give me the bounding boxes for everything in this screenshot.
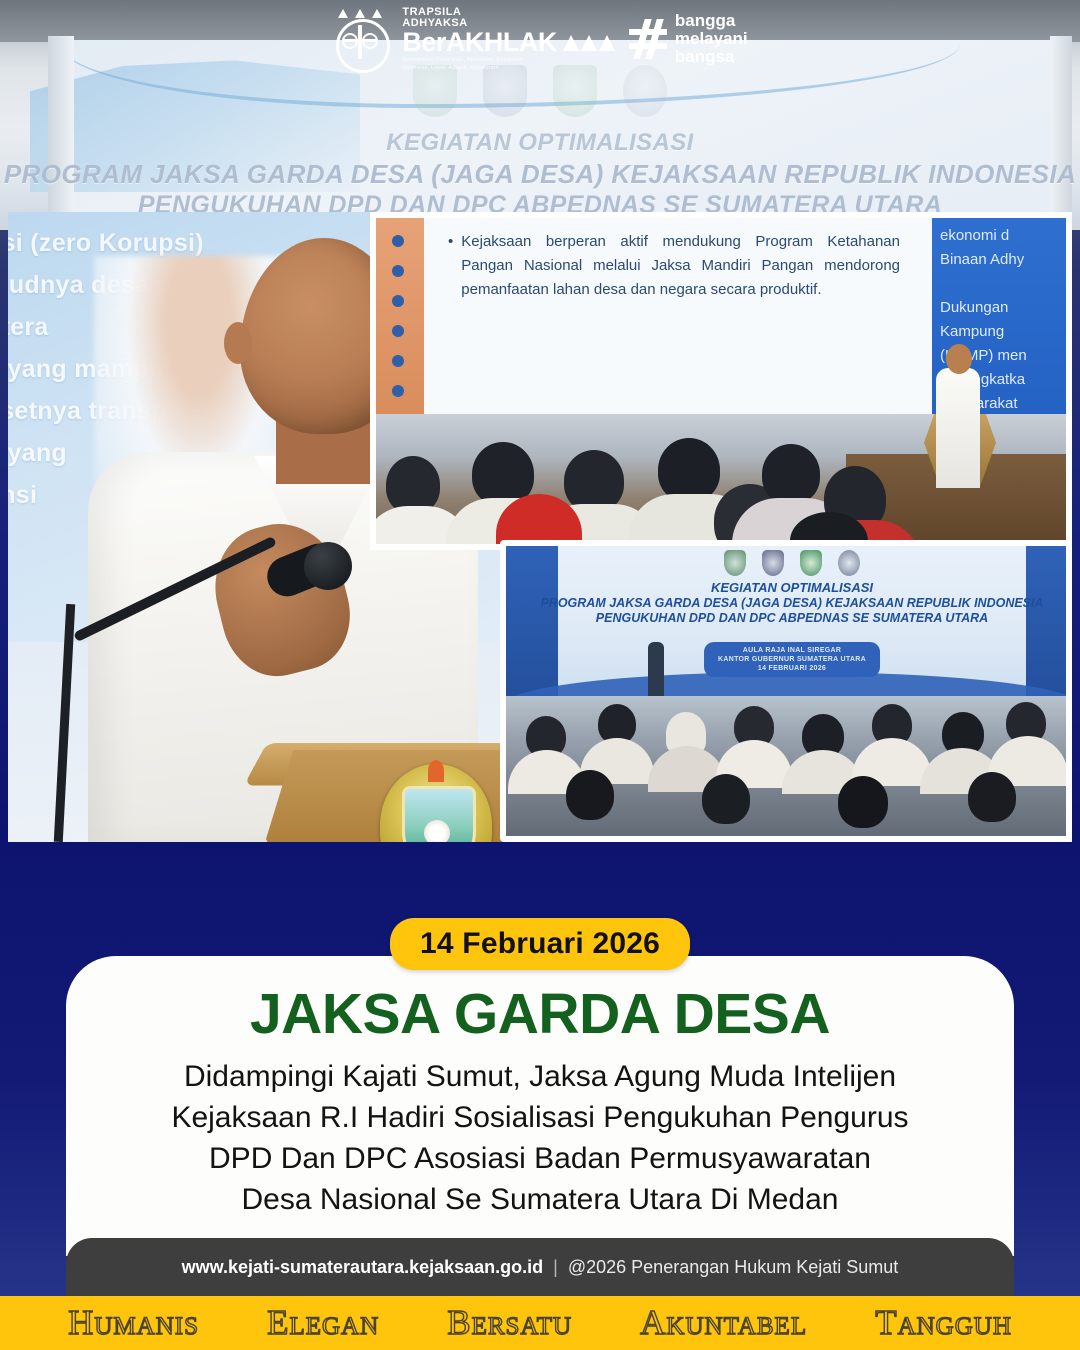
description-line-4: Desa Nasional Se Sumatera Utara Di Medan [96, 1179, 984, 1220]
presentation-photo: • Kejaksaan berperan aktif mendukung Pro… [370, 212, 1072, 550]
adhyaksa-emblem-icon [838, 550, 860, 576]
hall-wide-photo: KEGIATAN OPTIMALISASI PROGRAM JAKSA GARD… [500, 540, 1072, 842]
bangga-line3: bangsa [675, 48, 748, 66]
photo-collage: psi (zero Korupsi) ujudnya desa yang hte… [8, 212, 1072, 842]
hashtag-icon [629, 19, 667, 59]
audience-head [762, 444, 820, 504]
chevron-trio-icon [563, 35, 615, 51]
microphone-icon [304, 542, 352, 590]
venue-line2: KANTOR GUBERNUR SUMATERA UTARA [718, 655, 866, 664]
slide-dot-column [392, 226, 408, 406]
blue-line-4: Kampung [940, 320, 1070, 344]
bangga-melayani-bangsa-logo: bangga melayani bangsa [629, 12, 748, 66]
backdrop-banner-text: KEGIATAN OPTIMALISASI PROGRAM JAKSA GARD… [0, 128, 1080, 221]
website-url[interactable]: www.kejati-sumaterautara.kejaksaan.go.id [182, 1257, 543, 1278]
slide-bullet-text: Kejaksaan berperan aktif mendukung Progr… [461, 230, 900, 302]
audience-group [376, 428, 936, 550]
bangga-line1: bangga [675, 12, 748, 30]
bullet-dot-icon: • [448, 230, 453, 302]
crest-tip [428, 760, 444, 782]
sumut-emblem-icon [800, 550, 822, 576]
hall-audience [506, 696, 1072, 842]
footer-url-bar: www.kejati-sumaterautara.kejaksaan.go.id… [66, 1238, 1014, 1296]
bangga-line2: melayani [675, 30, 748, 48]
audience-head [566, 770, 614, 820]
audience-head [968, 772, 1016, 822]
stage-speaker-body [936, 368, 980, 488]
description-line-2: Kejaksaan R.I Hadiri Sosialisasi Penguku… [96, 1097, 984, 1138]
kejaksaan-logo-icon [332, 11, 388, 67]
hall-banner: KEGIATAN OPTIMALISASI PROGRAM JAKSA GARD… [506, 546, 1072, 696]
page-title: JAKSA GARDA DESA [66, 984, 1014, 1044]
kejaksaan-emblem-icon [724, 550, 746, 576]
blue-line-0: ekonomi d [940, 224, 1070, 248]
hall-banner-line3: PENGUKUHAN DPD DAN DPC ABPEDNAS SE SUMAT… [506, 611, 1072, 626]
blue-line-3: Dukungan [940, 296, 1070, 320]
blue-line-2 [940, 272, 1070, 296]
backdrop-line-2: PROGRAM JAKSA GARDA DESA (JAGA DESA) KEJ… [0, 158, 1080, 190]
blue-line-1: Binaan Adhy [940, 248, 1070, 272]
tagline-word-elegan: Elegan [267, 1303, 379, 1343]
abpednas-emblem-icon [483, 65, 527, 117]
values-tagline-bar: Humanis Elegan Bersatu Akuntabel Tangguh [0, 1296, 1080, 1350]
sumut-emblem-icon [553, 65, 597, 117]
slide-orange-strip [376, 218, 424, 414]
audience-head [658, 438, 720, 502]
audience-head [702, 774, 750, 824]
hall-banner-line1: KEGIATAN OPTIMALISASI [506, 580, 1072, 596]
speaker-ear [224, 322, 252, 364]
banner-emblem-row [506, 550, 1072, 576]
hall-banner-text: KEGIATAN OPTIMALISASI PROGRAM JAKSA GARD… [506, 580, 1072, 626]
three-stars-icon [338, 9, 382, 18]
header-logo-strip: TRAPSILA ADHYAKSA BerAKHLAK Berorientasi… [0, 8, 1080, 70]
hall-banner-line2: PROGRAM JAKSA GARDA DESA (JAGA DESA) KEJ… [506, 596, 1072, 611]
description-text: Didampingi Kajati Sumut, Jaksa Agung Mud… [96, 1056, 984, 1220]
berakhlak-word: BerAKHLAK [402, 29, 557, 56]
adhyaksa-emblem-icon [623, 65, 667, 117]
tagline-word-tangguh: Tangguh [875, 1303, 1012, 1343]
tagline-word-humanis: Humanis [68, 1303, 199, 1343]
backdrop-line-1: KEGIATAN OPTIMALISASI [0, 128, 1080, 158]
content-card: JAKSA GARDA DESA Didampingi Kajati Sumut… [66, 956, 1014, 1256]
berakhlak-tagline1: Berorientasi Pelayanan, Akuntabel, Kompe… [402, 58, 615, 64]
footer-separator: | [553, 1257, 558, 1278]
standing-speaker [648, 642, 664, 696]
description-line-3: DPD Dan DPC Asosiasi Badan Permusyawarat… [96, 1138, 984, 1179]
slide-bullet-block: • Kejaksaan berperan aktif mendukung Pro… [448, 230, 900, 302]
crest-star [424, 820, 450, 842]
abpednas-emblem-icon [762, 550, 784, 576]
berakhlak-tagline2: Harmonis, Loyal, Adaptif, Kolaboratif [402, 66, 615, 72]
tagline-word-bersatu: Bersatu [447, 1303, 572, 1343]
date-badge: 14 Februari 2026 [390, 918, 690, 970]
footer-credit: @2026 Penerangan Hukum Kejati Sumut [568, 1257, 898, 1278]
poster-canvas: KEGIATAN OPTIMALISASI PROGRAM JAKSA GARD… [0, 0, 1080, 1350]
stage-speaker-head [946, 344, 972, 374]
tagline-word-akuntabel: Akuntabel [640, 1303, 807, 1343]
description-line-1: Didampingi Kajati Sumut, Jaksa Agung Mud… [96, 1056, 984, 1097]
audience-head [838, 776, 888, 828]
audience-head [564, 450, 624, 512]
berakhlak-logo: TRAPSILA ADHYAKSA BerAKHLAK Berorientasi… [402, 7, 615, 71]
venue-line1: AULA RAJA INAL SIREGAR [718, 646, 866, 655]
kejaksaan-emblem-icon [413, 65, 457, 117]
